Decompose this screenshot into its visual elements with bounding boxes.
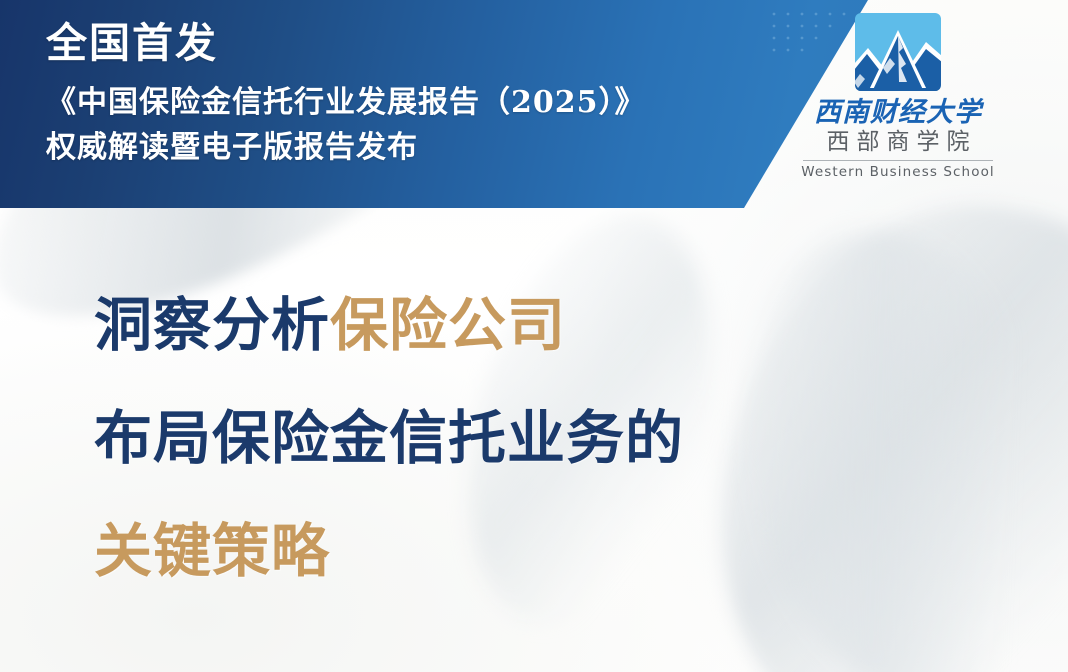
logo-school-name-en: Western Business School — [790, 164, 1006, 180]
logo-divider — [803, 160, 993, 161]
headline-line-1: 洞察分析保险公司 — [94, 296, 994, 354]
header-text-group: 全国首发 《中国保险金信托行业发展报告（2025）》 权威解读暨电子版报告发布 — [46, 18, 746, 169]
headline-line-2: 布局保险金信托业务的 — [94, 409, 994, 467]
mountain-logo-icon — [854, 12, 942, 92]
headline-group: 洞察分析保险公司 布局保险金信托业务的 关键策略 — [94, 296, 994, 580]
logo-school-name-cn: 西部商学院 — [790, 128, 1006, 157]
headline-line-1-gold: 保险公司 — [330, 291, 566, 359]
university-logo: 西南财经大学 西部商学院 Western Business School — [790, 12, 1006, 180]
headline-line-3: 关键策略 — [94, 522, 994, 580]
headline-line-1-navy: 洞察分析 — [94, 291, 330, 359]
poster-canvas: 全国首发 《中国保险金信托行业发展报告（2025）》 权威解读暨电子版报告发布 — [0, 0, 1068, 672]
header-subtitle-line-1: 《中国保险金信托行业发展报告（2025）》 — [46, 82, 746, 125]
logo-university-name-cn: 西南财经大学 — [790, 98, 1006, 128]
header-kicker: 全国首发 — [46, 18, 746, 68]
header-subtitle-line-2: 权威解读暨电子版报告发布 — [46, 127, 746, 170]
